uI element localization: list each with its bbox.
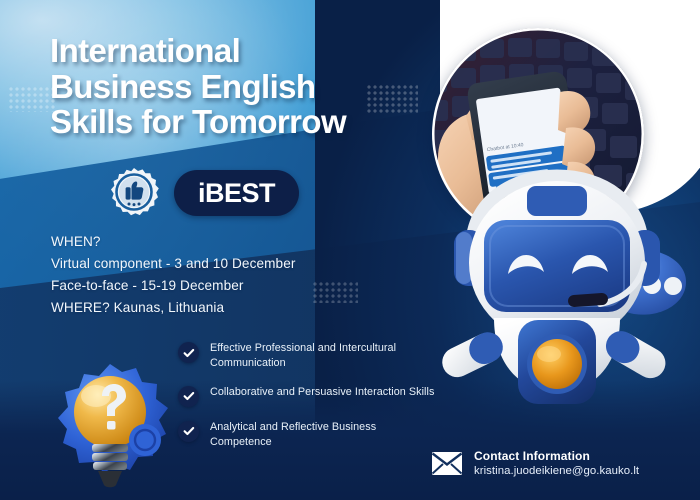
check-icon [178,421,199,442]
schedule-block: WHEN? Virtual component - 3 and 10 Decem… [51,231,296,319]
outcome-text: Effective Professional and Intercultural… [210,341,440,372]
virtual-dates: Virtual component - 3 and 10 December [51,253,296,275]
title-line-1: International [50,33,430,69]
ibest-wordmark: iBEST [174,170,299,216]
contact-email[interactable]: kristina.juodeikiene@go.kauko.lt [474,464,639,479]
contact-heading: Contact Information [474,448,639,464]
title-line-2: Business English [50,69,430,105]
contact-block: Contact Information kristina.juodeikiene… [432,448,639,480]
poster-canvas: Chatbot at 10:40 [0,0,700,500]
list-item: Collaborative and Persuasive Interaction… [178,385,440,407]
title-line-3: Skills for Tomorrow [50,104,430,140]
page-title: International Business English Skills fo… [50,33,430,140]
list-item: Analytical and Reflective Business Compe… [178,420,440,451]
check-icon [178,386,199,407]
where-location: WHERE? Kaunas, Lithuania [51,297,296,319]
thumbs-up-badge-icon [108,167,160,219]
outcome-text: Collaborative and Persuasive Interaction… [210,385,434,400]
when-label: WHEN? [51,231,296,253]
outcomes-list: Effective Professional and Intercultural… [178,341,440,463]
envelope-icon [432,452,462,475]
list-item: Effective Professional and Intercultural… [178,341,440,372]
outcome-text: Analytical and Reflective Business Compe… [210,420,440,451]
ibest-logo: iBEST [108,167,299,219]
check-icon [178,342,199,363]
robot-mascot-icon [432,168,682,428]
lightbulb-question-icon [46,358,174,498]
contact-text: Contact Information kristina.juodeikiene… [474,448,639,480]
ibest-label: iBEST [198,180,275,207]
face-to-face-dates: Face-to-face - 15-19 December [51,275,296,297]
